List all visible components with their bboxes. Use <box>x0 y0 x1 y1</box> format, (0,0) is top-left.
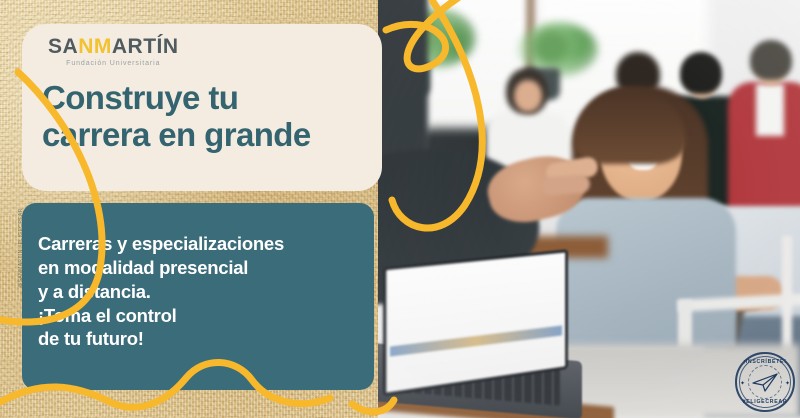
logo-text-part2: ARTÍN <box>112 35 179 58</box>
description-line-1: Carreras y especializaciones <box>38 232 368 256</box>
logo-subtitle: Fundación Universitaria <box>48 60 179 67</box>
description-line-2: en modalidad presencial <box>38 256 368 280</box>
badge-bottom-label: #ELIGECREAR <box>735 399 795 405</box>
description-line-4: ¡Toma el control <box>38 304 368 328</box>
headline-line-1: Construye tu <box>42 80 372 117</box>
paper-plane-icon <box>752 372 778 392</box>
side-credit-text: @SANMARTIN #ELIGECREAR <box>18 193 24 303</box>
logo-text-part1: SA <box>48 35 78 58</box>
description-text: Carreras y especializaciones en modalida… <box>38 232 368 351</box>
page-title: Construye tu carrera en grande <box>42 80 372 154</box>
promotional-banner: SANMARTÍN Fundación Universitaria Constr… <box>0 0 800 418</box>
description-line-5: de tu futuro! <box>38 327 368 351</box>
description-line-3: y a distancia. <box>38 280 368 304</box>
logo-wordmark: SANMARTÍN <box>48 36 179 57</box>
badge-star-right: ✦ <box>785 380 790 387</box>
brand-logo: SANMARTÍN Fundación Universitaria <box>48 36 179 67</box>
badge-star-left: ✦ <box>740 380 745 387</box>
status-badge[interactable]: ¡INSCRÍBETE! #ELIGECREAR ✦ ✦ <box>735 352 795 412</box>
badge-top-label: ¡INSCRÍBETE! <box>735 359 795 365</box>
headline-line-2: carrera en grande <box>42 117 372 154</box>
logo-text-highlight: NM <box>78 35 112 58</box>
